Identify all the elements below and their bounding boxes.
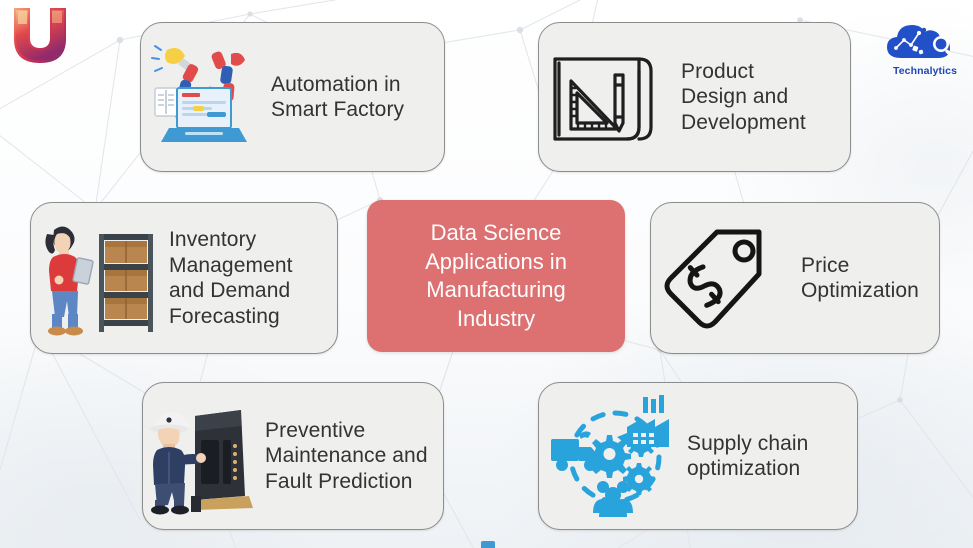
card-inventory-management-and-demand-forecasting[interactable]: Inventory Management and Demand Forecast… <box>30 202 338 354</box>
technalytics-logo: Technalytics <box>883 18 967 80</box>
card-label-supply: Supply chain optimization <box>687 431 857 482</box>
card-product-design-and-development[interactable]: Product Design and Development <box>538 22 851 172</box>
bottom-edge-artifact <box>481 541 495 548</box>
card-label-automation: Automation in Smart Factory <box>271 72 444 123</box>
truck-gears-factory-people-icon <box>549 395 679 517</box>
card-label-product: Product Design and Development <box>681 59 850 136</box>
brand-wordmark: Technalytics <box>883 65 967 77</box>
infographic-slide: Automation in Smart Factory <box>0 0 973 548</box>
card-label-preventive: Preventive Maintenance and Fault Predict… <box>265 418 443 495</box>
stylized-letter-u-logo <box>6 2 74 70</box>
card-label-inventory: Inventory Management and Demand Forecast… <box>169 227 337 329</box>
center-hub-data-science-applications: Data Science Applications in Manufacturi… <box>367 200 625 352</box>
price-tag-dollar-icon <box>659 218 781 338</box>
card-price-optimization[interactable]: Price Optimization <box>650 202 940 354</box>
robot-arms-laptop-icon <box>149 42 261 152</box>
card-supply-chain-optimization[interactable]: Supply chain optimization <box>538 382 858 530</box>
warehouse-worker-shelving-icon <box>37 214 165 342</box>
cloud-analytics-icon <box>883 18 967 62</box>
hub-title: Data Science Applications in Manufacturi… <box>413 219 579 333</box>
card-label-price: Price Optimization <box>801 253 939 304</box>
card-automation-in-smart-factory[interactable]: Automation in Smart Factory <box>140 22 445 172</box>
blueprint-ruler-pencil-icon <box>547 41 667 153</box>
card-preventive-maintenance-and-fault-prediction[interactable]: Preventive Maintenance and Fault Predict… <box>142 382 444 530</box>
technician-machine-icon <box>149 396 259 516</box>
